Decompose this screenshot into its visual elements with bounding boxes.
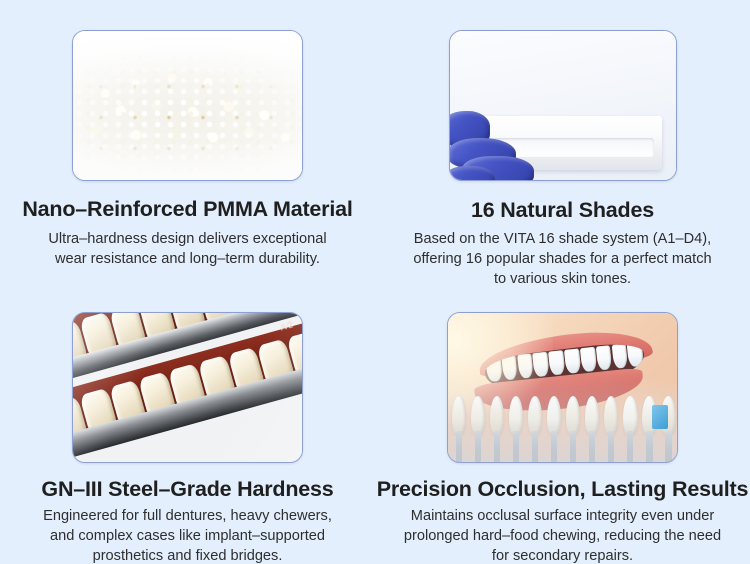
smile-shade-match-photo (447, 312, 678, 463)
card-description: Ultra–hardness design delivers exception… (48, 229, 326, 269)
gloved-hand (450, 111, 558, 180)
vita-shade-guide-photo (449, 30, 677, 181)
card-description-line: wear resistance and long–term durability… (48, 249, 326, 269)
card-title: Nano–Reinforced PMMA Material (22, 197, 352, 222)
card-description-line: Engineered for full dentures, heavy chew… (43, 506, 332, 526)
card-description: Based on the VITA 16 shade system (A1–D4… (413, 229, 711, 289)
card-title: GN–III Steel–Grade Hardness (41, 477, 333, 502)
smile-tooth (563, 348, 580, 373)
feature-grid: Nano–Reinforced PMMA Material Ultra–hard… (0, 0, 750, 564)
feature-card-nano-reinforced-pmma-material: Nano–Reinforced PMMA Material Ultra–hard… (0, 0, 375, 282)
card-description-line: Ultra–hardness design delivers exception… (48, 229, 326, 249)
feature-card-precision-occlusion-lasting-results: Precision Occlusion, Lasting Results Mai… (375, 282, 750, 564)
blue-shade-chip (652, 405, 668, 429)
card-description-line: for secondary repairs. (404, 546, 721, 564)
card-description: Maintains occlusal surface integrity eve… (404, 506, 721, 564)
card-title: Precision Occlusion, Lasting Results (377, 477, 749, 502)
smile-tooth (611, 343, 628, 368)
smile-tooth (579, 347, 596, 372)
feature-card-gn-iii-steel-grade-hardness: A⁄2 GN–III Steel–Grade Hardness Engineer… (0, 282, 375, 564)
card-description-line: prolonged hard–food chewing, reducing th… (404, 526, 721, 546)
card-description-line: and complex cases like implant–supported (43, 526, 332, 546)
card-description: Engineered for full dentures, heavy chew… (43, 506, 332, 564)
card-description-line: Maintains occlusal surface integrity eve… (404, 506, 721, 526)
smile-tooth (626, 342, 643, 367)
feature-card-16-natural-shades: 16 Natural Shades Based on the VITA 16 s… (375, 0, 750, 282)
card-title: 16 Natural Shades (471, 198, 654, 223)
card-description-line: Based on the VITA 16 shade system (A1–D4… (413, 229, 711, 249)
card-description-line: prosthetics and fixed bridges. (43, 546, 332, 564)
smile-tooth (595, 345, 612, 370)
card-description-line: offering 16 popular shades for a perfect… (413, 249, 711, 269)
denture-teeth-card-photo: A⁄2 (72, 312, 303, 463)
pmma-pellets-photo (72, 30, 303, 181)
